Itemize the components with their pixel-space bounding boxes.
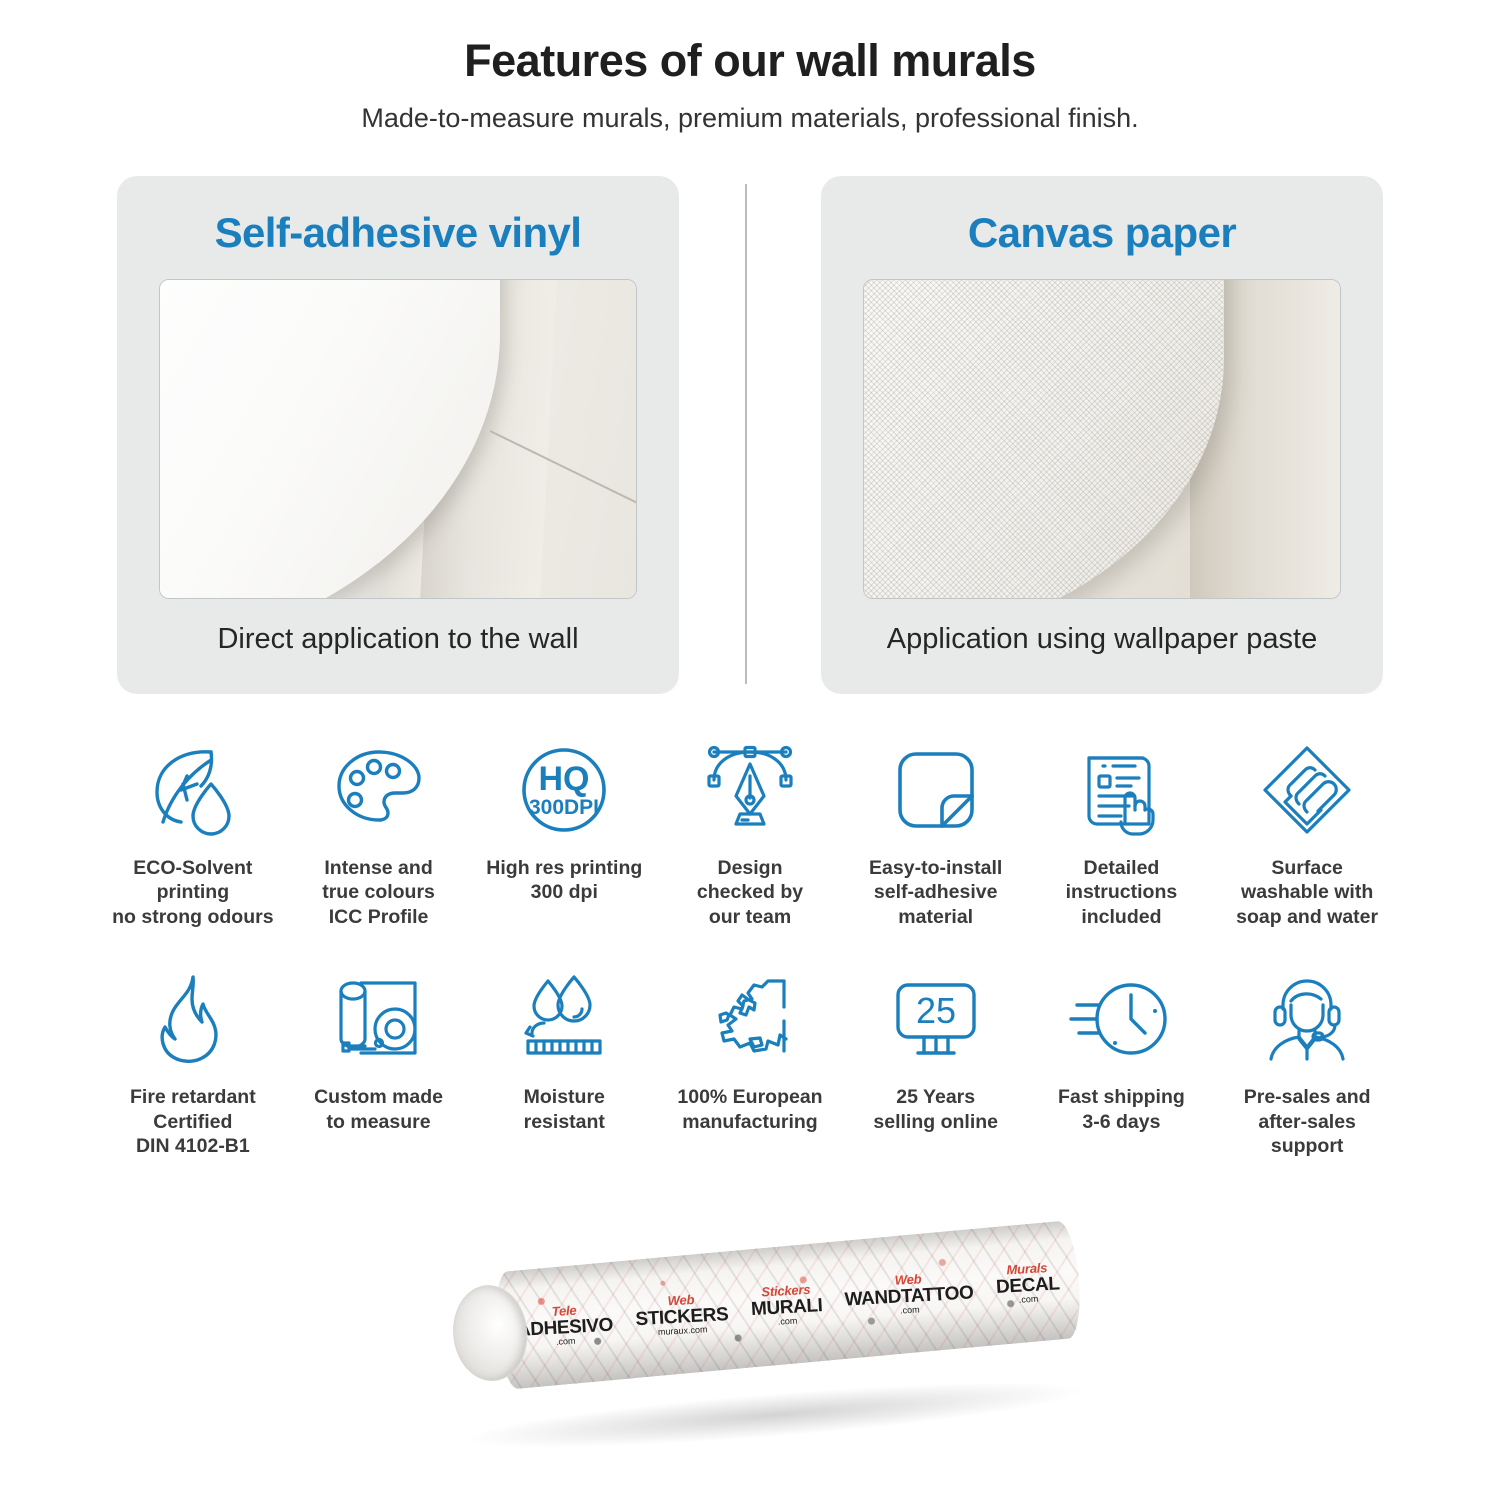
feature-label: 100% European manufacturing — [661, 1085, 839, 1134]
feature-true-colours: Intense and true colours ICC Profile — [286, 734, 472, 930]
feature-custom-made: Custom made to measure — [286, 963, 472, 1159]
panel-canvas-paper: Canvas paper Application using wallpaper… — [821, 176, 1383, 694]
brand-logo: Stickers MURALI .com — [749, 1282, 823, 1328]
tube-brand-list: Tele ADHESIVO .com Web STICKERS muraux.c… — [492, 1220, 1084, 1390]
panel-title-canvas: Canvas paper — [821, 209, 1383, 257]
feature-high-res: HQ 300DPI High res printing 300 dpi — [471, 734, 657, 930]
feature-label: Pre-sales and after-sales support — [1218, 1085, 1396, 1159]
tube-body: Tele ADHESIVO .com Web STICKERS muraux.c… — [492, 1220, 1084, 1390]
packaging-tube-area: Tele ADHESIVO .com Web STICKERS muraux.c… — [0, 1222, 1500, 1472]
brand-logo: Web WANDTATTOO .com — [843, 1269, 974, 1318]
years-badge: 25 — [916, 990, 956, 1031]
instructions-hand-icon — [1033, 734, 1211, 846]
brand-logo: Web STICKERS muraux.com — [634, 1291, 729, 1338]
europe-map-icon — [661, 963, 839, 1075]
feature-grid: ECO-Solvent printing no strong odours In… — [100, 734, 1400, 1159]
paint-palette-icon — [290, 734, 468, 846]
fast-clock-icon — [1033, 963, 1211, 1075]
panel-self-adhesive-vinyl: Self-adhesive vinyl Direct application t… — [117, 176, 679, 694]
hq-badge-bottom: 300DPI — [529, 796, 599, 819]
feature-label: Easy-to-install self-adhesive material — [847, 856, 1025, 930]
brand-logo: Tele ADHESIVO .com — [515, 1302, 613, 1349]
feature-fire-retardant: Fire retardant Certified DIN 4102-B1 — [100, 963, 286, 1159]
feature-support: Pre-sales and after-sales support — [1214, 963, 1400, 1159]
feature-label: Intense and true colours ICC Profile — [290, 856, 468, 930]
flame-icon — [104, 963, 282, 1075]
feature-surface-washable: Surface washable with soap and water — [1214, 734, 1400, 930]
feature-label: 25 Years selling online — [847, 1085, 1025, 1134]
feature-label: Design checked by our team — [661, 856, 839, 930]
feature-label: Moisture resistant — [475, 1085, 653, 1134]
panel-divider — [745, 184, 747, 684]
page-header: Features of our wall murals Made-to-meas… — [0, 0, 1500, 134]
eco-leaf-drop-icon — [104, 734, 282, 846]
feature-label: ECO-Solvent printing no strong odours — [104, 856, 282, 930]
page-title: Features of our wall murals — [0, 36, 1500, 86]
headset-agent-icon — [1218, 963, 1396, 1075]
feature-easy-install: Easy-to-install self-adhesive material — [843, 734, 1029, 930]
page-subtitle: Made-to-measure murals, premium material… — [0, 103, 1500, 134]
feature-moisture-resistant: Moisture resistant — [471, 963, 657, 1159]
vinyl-photo — [159, 279, 637, 599]
panel-caption-vinyl: Direct application to the wall — [117, 621, 679, 658]
brand-logo: Murals DECAL .com — [995, 1260, 1061, 1305]
hand-wiping-cloth-icon — [1218, 734, 1396, 846]
feature-label: Fire retardant Certified DIN 4102-B1 — [104, 1085, 282, 1159]
packaging-tube: Tele ADHESIVO .com Web STICKERS muraux.c… — [448, 1220, 1084, 1394]
feature-label: Detailed instructions included — [1033, 856, 1211, 930]
peel-corner-sheet-icon — [847, 734, 1025, 846]
monitor-25-icon: 25 — [847, 963, 1025, 1075]
canvas-photo — [863, 279, 1341, 599]
panel-caption-canvas: Application using wallpaper paste — [821, 621, 1383, 658]
roll-tape-measure-icon — [290, 963, 468, 1075]
feature-design-checked: Design checked by our team — [657, 734, 843, 930]
feature-25-years: 25 25 Years selling online — [843, 963, 1029, 1159]
feature-fast-shipping: Fast shipping 3-6 days — [1029, 963, 1215, 1159]
feature-label: High res printing 300 dpi — [475, 856, 653, 905]
feature-label: Custom made to measure — [290, 1085, 468, 1134]
feature-european-manufacturing: 100% European manufacturing — [657, 963, 843, 1159]
water-drops-barrier-icon — [475, 963, 653, 1075]
pen-nib-bezier-icon — [661, 734, 839, 846]
hq-badge-top: HQ — [539, 760, 590, 798]
hq-300dpi-icon: HQ 300DPI — [475, 734, 653, 846]
panel-title-vinyl: Self-adhesive vinyl — [117, 209, 679, 257]
feature-instructions: Detailed instructions included — [1029, 734, 1215, 930]
feature-label: Fast shipping 3-6 days — [1033, 1085, 1211, 1134]
feature-eco-solvent: ECO-Solvent printing no strong odours — [100, 734, 286, 930]
material-comparison: Self-adhesive vinyl Direct application t… — [117, 176, 1383, 694]
feature-label: Surface washable with soap and water — [1218, 856, 1396, 930]
